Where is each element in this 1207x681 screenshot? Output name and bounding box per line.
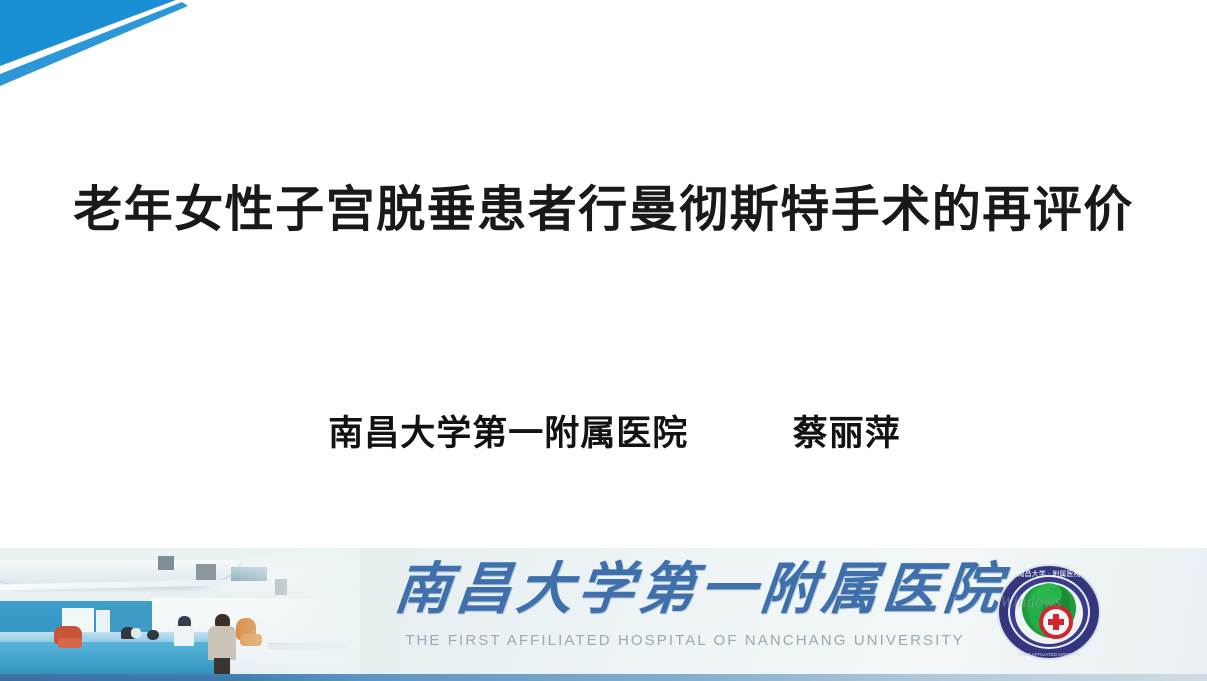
- presentation-slide: 老年女性子宫脱垂患者行曼彻斯特手术的再评价 南昌大学第一附属医院 蔡丽萍: [0, 0, 1207, 681]
- affiliation-row: 南昌大学第一附属医院 蔡丽萍: [0, 405, 1207, 456]
- affiliation-organization: 南昌大学第一附属医院: [328, 405, 688, 456]
- presenter-name: 蔡丽萍: [793, 405, 901, 456]
- screen-watermark: Windows: [1000, 592, 1150, 614]
- svg-text:FIRST AFFILIATED HOSPITAL: FIRST AFFILIATED HOSPITAL: [1018, 652, 1081, 657]
- banner-bottom-strip: [0, 674, 1207, 681]
- corner-ribbon-icon: [0, 0, 300, 130]
- svg-text:南昌大学 · 附属医院: 南昌大学 · 附属医院: [1018, 569, 1081, 578]
- slide-content-area: 老年女性子宫脱垂患者行曼彻斯特手术的再评价 南昌大学第一附属医院 蔡丽萍: [0, 0, 1207, 548]
- hospital-lobby-photo: [0, 548, 360, 681]
- banner-hospital-name-en: THE FIRST AFFILIATED HOSPITAL OF NANCHAN…: [395, 632, 975, 649]
- page-title: 老年女性子宫脱垂患者行曼彻斯特手术的再评价: [0, 183, 1207, 238]
- banner-hospital-name-cn: 南昌大学第一附属医院: [392, 561, 978, 617]
